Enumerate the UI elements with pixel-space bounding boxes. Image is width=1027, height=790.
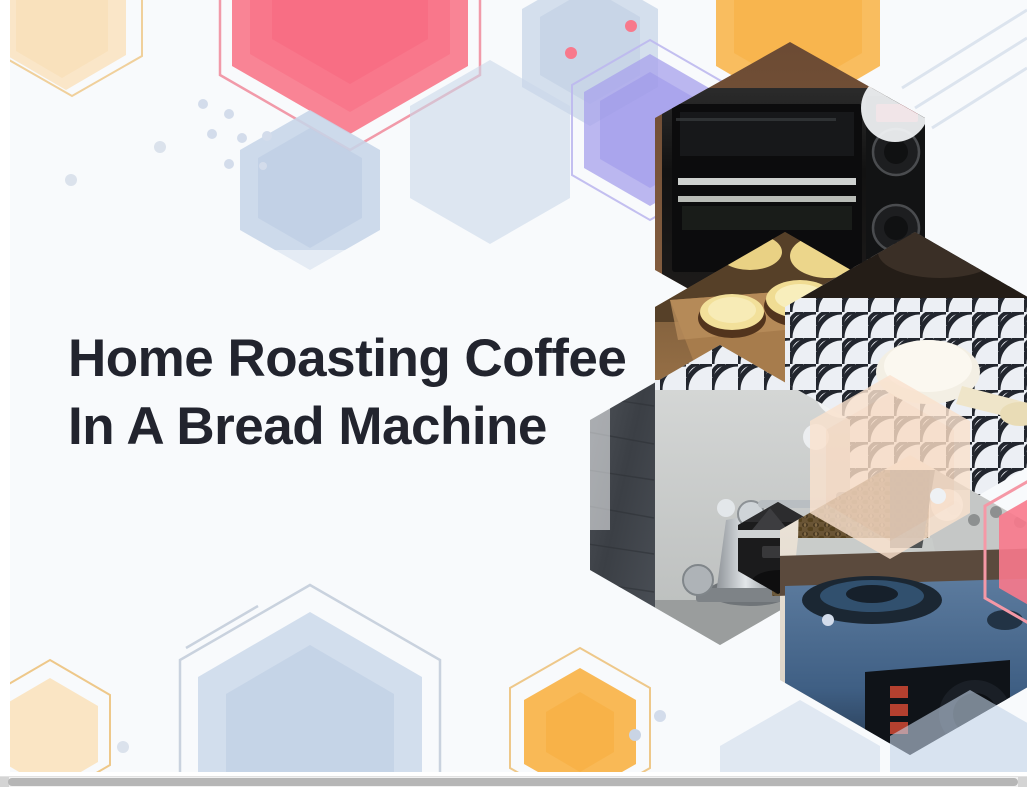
horizontal-scrollbar-thumb[interactable]	[8, 778, 1018, 786]
page-title-line-2: In A Bread Machine	[68, 393, 628, 461]
scroll-right-arrow[interactable]	[1018, 777, 1027, 787]
hero-banner: Home Roasting Coffee In A Bread Machine	[10, 0, 1027, 772]
page-title-line-1: Home Roasting Coffee	[68, 325, 628, 393]
page-title: Home Roasting Coffee In A Bread Machine	[68, 325, 628, 461]
